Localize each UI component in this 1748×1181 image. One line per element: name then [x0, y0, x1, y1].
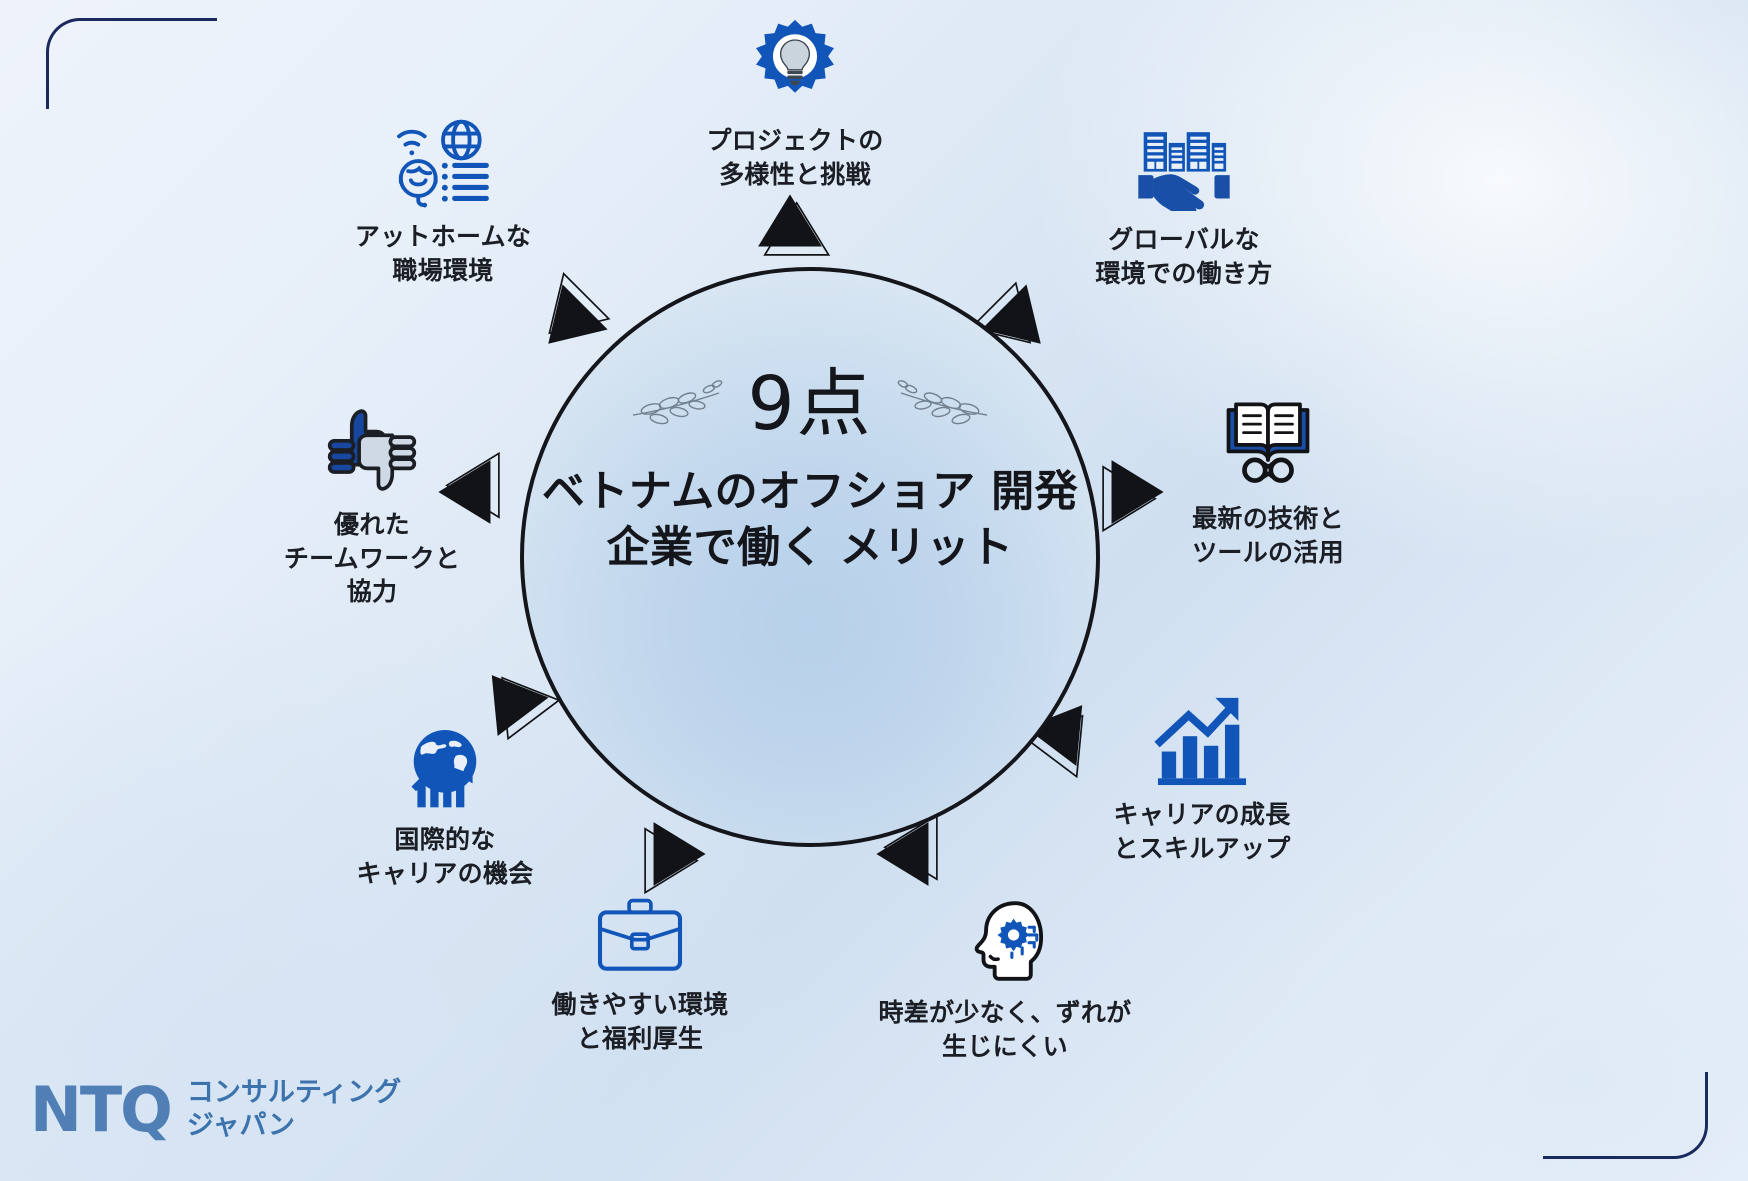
node-label: キャリアの成長 とスキルアップ — [1052, 798, 1352, 865]
center-circle: 9点 — [520, 267, 1100, 847]
leaf-branch-right-icon — [895, 375, 991, 433]
node-at-home-workplace[interactable]: アットホームな 職場環境 — [293, 112, 593, 287]
leaf-branch-left-icon — [629, 375, 725, 433]
logo-subtitle: コンサルティング ジャパン — [187, 1077, 401, 1143]
ntq-logo[interactable]: NTQ コンサルティング ジャパン — [30, 1077, 401, 1143]
headset-globe-list-icon — [293, 112, 593, 208]
briefcase-icon — [490, 880, 790, 976]
node-global-work[interactable]: グローバルな 環境での働き方 — [1034, 115, 1334, 290]
node-latest-tech[interactable]: 最新の技術と ツールの活用 — [1118, 394, 1418, 569]
corner-frame-bottom-right — [1543, 1072, 1708, 1159]
handshake-buildings-icon — [1034, 115, 1334, 211]
globe-growth-icon — [295, 715, 595, 811]
infographic-canvas: 9点 — [0, 0, 1748, 1181]
node-career-growth[interactable]: キャリアの成長 とスキルアップ — [1052, 690, 1352, 865]
score-value: 9点 — [747, 367, 872, 441]
logo-mark: NTQ — [30, 1081, 171, 1140]
open-book-infinity-icon — [1118, 394, 1418, 490]
node-label: 時差が少なく、ずれが 生じにくい — [855, 996, 1155, 1063]
node-label: 働きやすい環境 と福利厚生 — [490, 988, 790, 1055]
thumbs-up-down-icon — [222, 400, 522, 496]
gear-lightbulb-icon — [645, 16, 945, 112]
node-project-diversity[interactable]: プロジェクトの 多様性と挑戦 — [645, 16, 945, 191]
node-time-difference[interactable]: 時差が少なく、ずれが 生じにくい — [855, 888, 1155, 1063]
node-label: 国際的な キャリアの機会 — [295, 823, 595, 890]
corner-frame-top-left — [46, 18, 217, 109]
head-gear-icon — [855, 888, 1155, 984]
node-label: 最新の技術と ツールの活用 — [1118, 502, 1418, 569]
node-work-environment[interactable]: 働きやすい環境 と福利厚生 — [490, 880, 790, 1055]
node-label: 優れた チームワークと 協力 — [222, 508, 522, 609]
node-international-career[interactable]: 国際的な キャリアの機会 — [295, 715, 595, 890]
score-row: 9点 — [629, 367, 990, 441]
node-teamwork[interactable]: 優れた チームワークと 協力 — [222, 400, 522, 609]
node-label: アットホームな 職場環境 — [293, 220, 593, 287]
node-label: グローバルな 環境での働き方 — [1034, 223, 1334, 290]
center-title: ベトナムのオフショア 開発企業で働く メリット — [524, 465, 1096, 577]
bar-chart-arrow-icon — [1052, 690, 1352, 786]
arrow-up — [748, 186, 832, 270]
node-label: プロジェクトの 多様性と挑戦 — [645, 124, 945, 191]
